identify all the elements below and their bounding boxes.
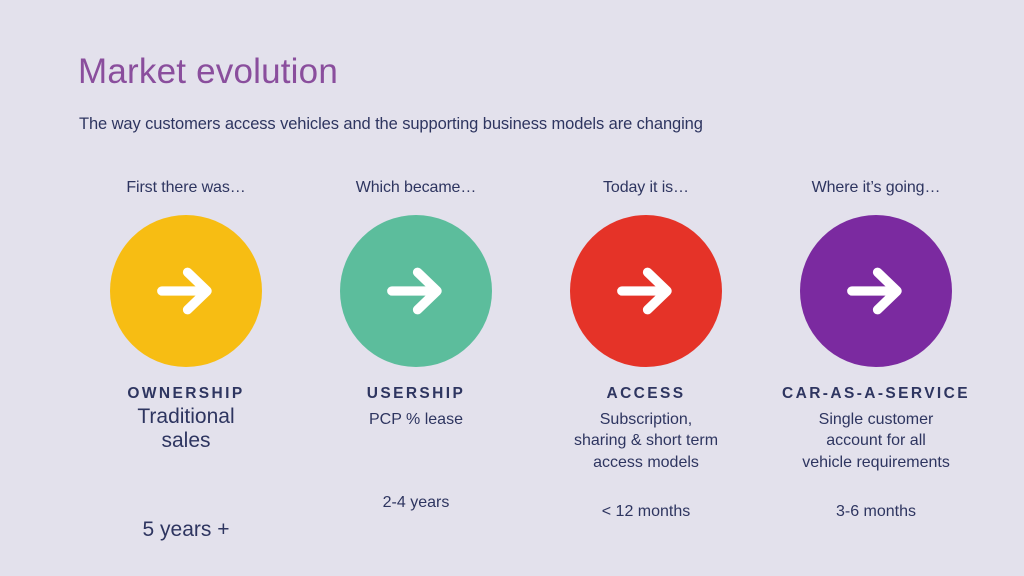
arrow-right-icon [837,252,915,330]
stage-duration: 3-6 months [761,503,991,521]
stage-label: CAR-AS-A-SERVICE [782,385,970,403]
stage-kicker: Where it’s going… [812,178,941,198]
stage-description: Traditional sales [137,405,234,452]
stage-duration: 2-4 years [301,494,531,512]
arrow-right-icon [377,252,455,330]
stage-kicker: Today it is… [603,178,689,198]
stage-circle [340,215,492,367]
stage-kicker: First there was… [126,178,245,198]
stage-kicker: Which became… [356,178,477,198]
stage-label: ACCESS [607,385,686,403]
stage-circle [110,215,262,367]
stage-description: Subscription, sharing & short term acces… [574,409,718,473]
stage-description: Single customer account for all vehicle … [802,409,950,473]
stage-circle [800,215,952,367]
stage-circle [570,215,722,367]
arrow-right-icon [147,252,225,330]
stage-column-ownership: First there was… OWNERSHIP Traditional s… [71,178,301,452]
page-subtitle: The way customers access vehicles and th… [79,115,703,134]
slide-canvas: Market evolution The way customers acces… [0,0,1024,576]
stage-label: OWNERSHIP [127,385,244,403]
stage-column-car-as-a-service: Where it’s going… CAR-AS-A-SERVICE Singl… [761,178,991,473]
stage-label: USERSHIP [367,385,465,403]
arrow-right-icon [607,252,685,330]
stage-description: PCP % lease [369,409,463,430]
stage-duration: 5 years + [71,518,301,542]
stage-column-access: Today it is… ACCESS Subscription, sharin… [531,178,761,473]
stage-column-usership: Which became… USERSHIP PCP % lease 2-4 y… [301,178,531,430]
stage-duration: < 12 months [531,503,761,521]
page-title: Market evolution [78,53,338,92]
evolution-stages: First there was… OWNERSHIP Traditional s… [71,178,991,473]
